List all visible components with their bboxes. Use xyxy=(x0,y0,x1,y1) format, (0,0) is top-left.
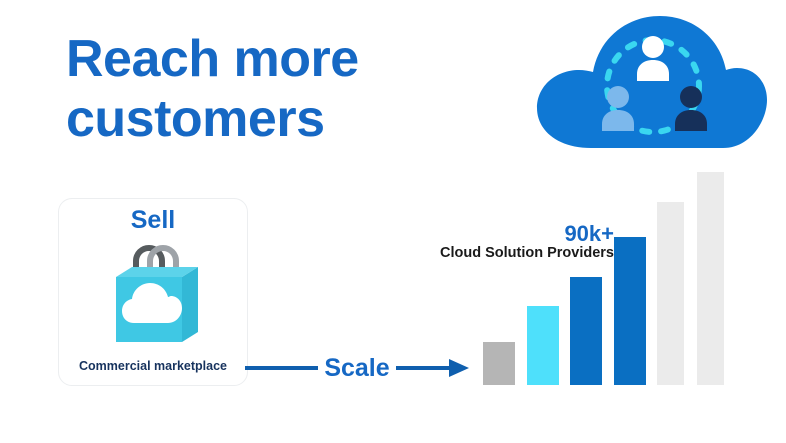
chart-callout: 90k+ Cloud Solution Providers xyxy=(424,222,614,262)
chart-bar-6 xyxy=(697,172,724,385)
scale-label: Scale xyxy=(318,356,395,381)
cloud-with-people-illustration xyxy=(527,8,771,158)
callout-value: 90k+ xyxy=(424,222,614,245)
sell-card-caption: Commercial marketplace xyxy=(59,359,247,373)
scale-label-wrap: Scale xyxy=(243,348,471,388)
callout-caption: Cloud Solution Providers xyxy=(424,245,614,262)
chart-bar-3 xyxy=(570,277,602,385)
growth-bar-chart xyxy=(480,160,720,385)
slide-canvas: Reach more customers xyxy=(0,0,786,443)
sell-card[interactable]: Sell Commercial marketplace xyxy=(58,198,248,386)
chart-bar-1 xyxy=(483,342,515,385)
shopping-bag-cloud-icon xyxy=(100,237,206,349)
chart-bar-2 xyxy=(527,306,559,385)
scale-arrow: Scale xyxy=(243,348,471,388)
sell-card-title: Sell xyxy=(59,206,247,235)
cloud-shape xyxy=(537,16,767,148)
chart-bar-5 xyxy=(657,202,684,385)
chart-bar-4 xyxy=(614,237,646,385)
page-title: Reach more customers xyxy=(66,30,426,150)
